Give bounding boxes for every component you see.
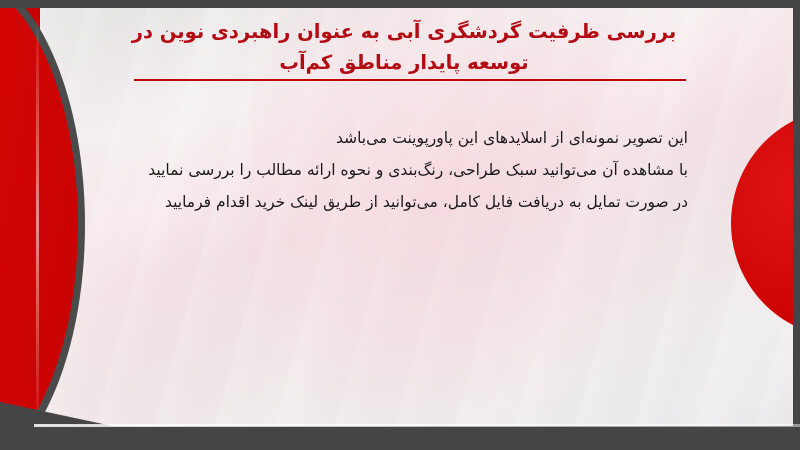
frame-bottom-highlight — [34, 424, 800, 427]
body-line-3: در صورت تمایل به دریافت فایل کامل، می‌تو… — [128, 186, 688, 218]
body-line-2: با مشاهده آن می‌توانید سبک طراحی، رنگ‌بن… — [128, 154, 688, 186]
slide-title: بررسی ظرفیت گردشگری آبی به عنوان راهبردی… — [120, 16, 688, 78]
frame-top-border — [0, 0, 800, 8]
title-line-1: بررسی ظرفیت گردشگری آبی به عنوان راهبردی… — [120, 16, 688, 47]
slide-body-text: این تصویر نمونه‌ای از اسلایدهای این پاور… — [128, 122, 688, 218]
frame-bottom-border — [0, 426, 800, 450]
title-underline-rule — [134, 79, 686, 81]
title-line-2: توسعه پایدار مناطق کم‌آب — [120, 47, 688, 78]
presentation-slide: بررسی ظرفیت گردشگری آبی به عنوان راهبردی… — [0, 0, 800, 450]
frame-right-border — [793, 0, 800, 450]
body-line-1: این تصویر نمونه‌ای از اسلایدهای این پاور… — [128, 122, 688, 154]
